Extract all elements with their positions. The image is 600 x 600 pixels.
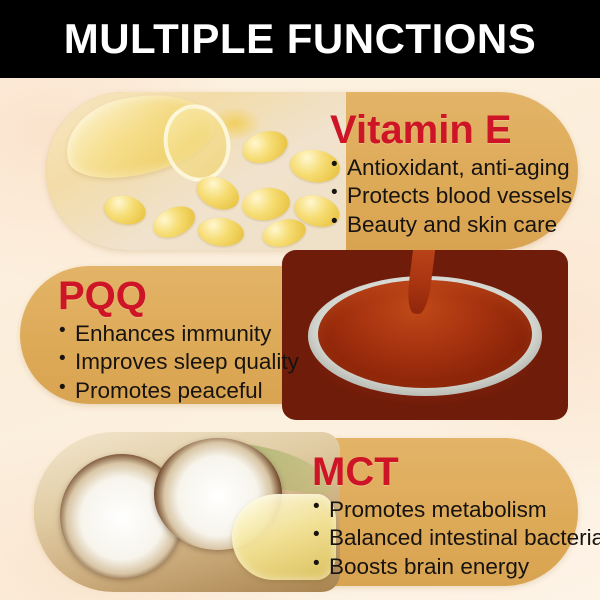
softgel-capsule	[260, 215, 309, 250]
card-vitamin-e: Vitamin E Antioxidant, anti-aging Protec…	[46, 92, 578, 250]
card-pqq-text: PQQ Enhances immunity Improves sleep qua…	[58, 276, 299, 405]
card-pqq-title: PQQ	[58, 276, 299, 316]
benefit-item: Promotes peaceful	[58, 377, 299, 405]
softgel-capsule	[148, 200, 200, 243]
page-title: MULTIPLE FUNCTIONS	[64, 18, 537, 60]
softgel-capsule	[240, 185, 292, 223]
benefit-item: Antioxidant, anti-aging	[330, 154, 572, 182]
infographic-poster: MULTIPLE FUNCTIONS Vitamin E Antioxidant…	[0, 0, 600, 600]
card-pqq: PQQ Enhances immunity Improves sleep qua…	[20, 266, 548, 404]
header-bar: MULTIPLE FUNCTIONS	[0, 0, 600, 78]
softgel-capsule	[102, 192, 149, 228]
benefit-item: Promotes metabolism	[312, 496, 600, 524]
softgel-capsule	[238, 126, 291, 169]
card-vitamin-e-title: Vitamin E	[330, 110, 572, 150]
benefit-item: Enhances immunity	[58, 320, 299, 348]
benefit-item: Balanced intestinal bacteria	[312, 524, 600, 552]
card-vitamin-e-benefits: Antioxidant, anti-aging Protects blood v…	[330, 154, 572, 239]
card-pqq-benefits: Enhances immunity Improves sleep quality…	[58, 320, 299, 405]
benefit-item: Beauty and skin care	[330, 211, 572, 239]
card-mct: MCT Promotes metabolism Balanced intesti…	[34, 438, 578, 586]
red-powder-dish-photo	[282, 250, 568, 420]
softgel-capsule	[197, 216, 246, 249]
benefit-item: Improves sleep quality	[58, 348, 299, 376]
card-mct-benefits: Promotes metabolism Balanced intestinal …	[312, 496, 600, 581]
coconut-oil-photo	[34, 432, 340, 592]
benefit-item: Boosts brain energy	[312, 553, 600, 581]
benefit-item: Protects blood vessels	[330, 182, 572, 210]
card-mct-text: MCT Promotes metabolism Balanced intesti…	[312, 452, 600, 581]
card-mct-title: MCT	[312, 452, 600, 492]
softgel-capsules-photo	[46, 92, 346, 250]
card-vitamin-e-text: Vitamin E Antioxidant, anti-aging Protec…	[330, 110, 572, 239]
